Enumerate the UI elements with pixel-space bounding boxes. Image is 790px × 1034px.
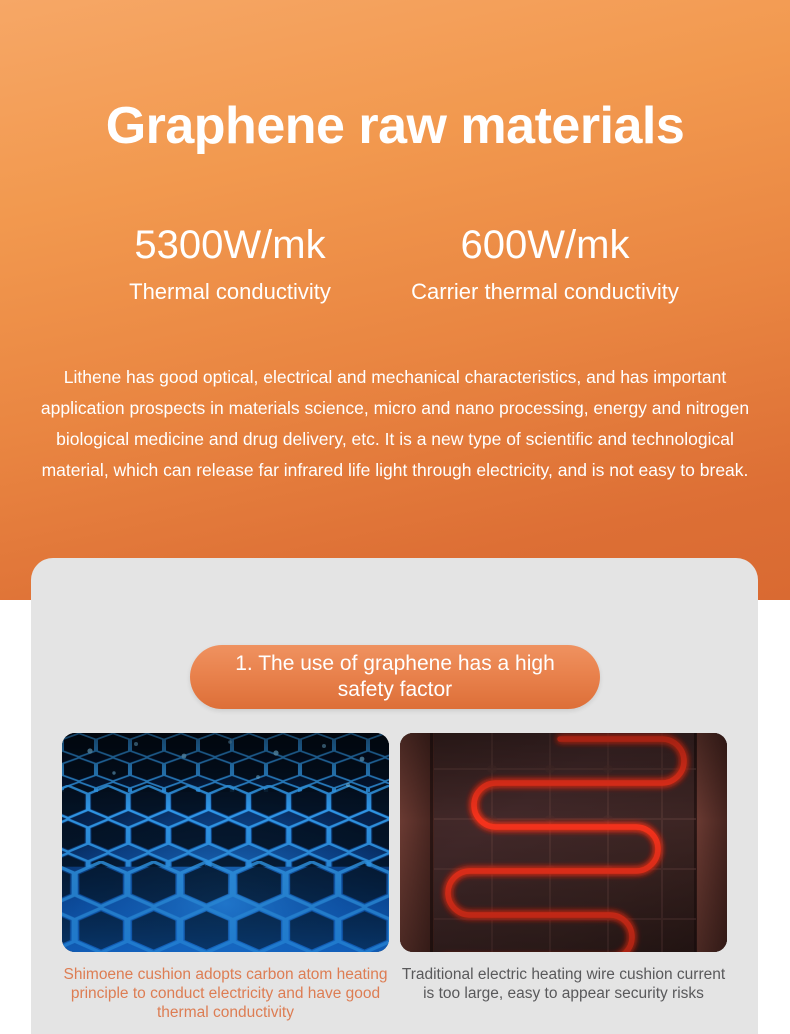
section-badge: 1. The use of graphene has a high safety… [190, 645, 600, 709]
stat-carrier-thermal-conductivity: 600W/mk Carrier thermal conductivity [380, 222, 710, 306]
panel-traditional-heating-wire: Traditional electric heating wire cushio… [400, 733, 727, 1022]
panel-graphene: Shimoene cushion adopts carbon atom heat… [62, 733, 389, 1022]
panel-caption: Traditional electric heating wire cushio… [400, 965, 727, 1003]
stat-label: Thermal conductivity [80, 279, 380, 305]
page-title: Graphene raw materials [0, 98, 790, 155]
stat-value: 600W/mk [380, 222, 710, 269]
feature-card: 1. The use of graphene has a high safety… [31, 558, 758, 1034]
product-detail-page: Graphene raw materials 5300W/mk Thermal … [0, 0, 790, 1034]
panel-caption: Shimoene cushion adopts carbon atom heat… [62, 965, 389, 1022]
electric-heating-wire-cushion-photo [400, 733, 727, 952]
hero-section: Graphene raw materials 5300W/mk Thermal … [0, 0, 790, 600]
stats-row: 5300W/mk Thermal conductivity 600W/mk Ca… [0, 222, 790, 306]
stat-label: Carrier thermal conductivity [380, 279, 710, 305]
graphene-hexagonal-lattice-photo [62, 733, 389, 952]
hero-description: Lithene has good optical, electrical and… [28, 362, 762, 486]
stat-thermal-conductivity: 5300W/mk Thermal conductivity [80, 222, 380, 306]
comparison-panels: Shimoene cushion adopts carbon atom heat… [62, 733, 727, 1022]
stat-value: 5300W/mk [80, 222, 380, 269]
